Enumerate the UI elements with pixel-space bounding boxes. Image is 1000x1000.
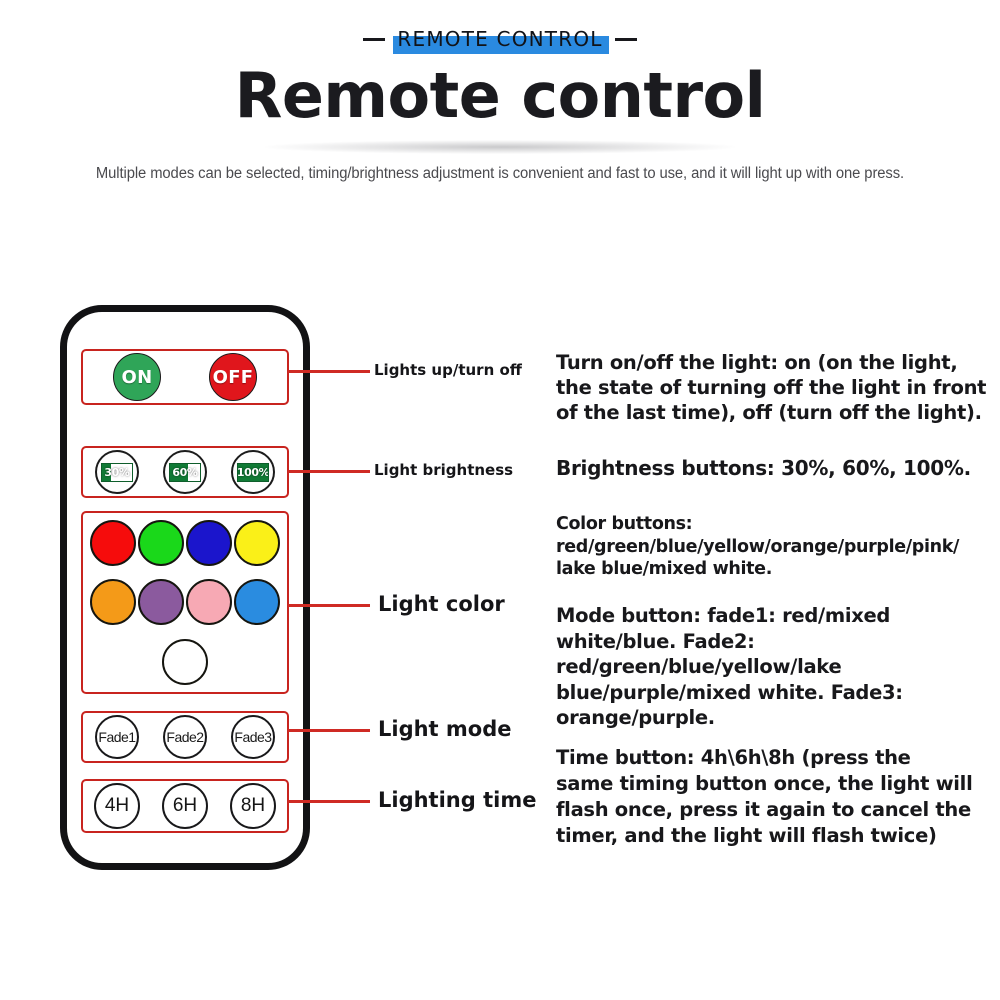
description-color: Color buttons: red/green/blue/yellow/ora… [556, 513, 959, 581]
mode-label-fade2: Fade2 [166, 729, 203, 745]
leader-line-power [288, 370, 370, 373]
timer-label-8h: 8H [241, 795, 265, 817]
timer-button-4h[interactable]: 4H [94, 783, 140, 829]
mode-button-fade1[interactable]: Fade1 [95, 715, 139, 759]
color-button-yellow[interactable] [234, 520, 280, 566]
callout-label-brightness: Light brightness [374, 461, 513, 479]
brightness-button-30[interactable]: 30% [95, 450, 139, 494]
color-button-lake-blue[interactable] [234, 579, 280, 625]
leader-line-color [288, 604, 370, 607]
brightness-button-60[interactable]: 60% [163, 450, 207, 494]
mode-button-fade3[interactable]: Fade3 [231, 715, 275, 759]
brightness-label-60: 60% [172, 466, 197, 479]
description-time: Time button: 4h\6h\8h (press the same ti… [556, 745, 972, 849]
brightness-button-100[interactable]: 100% [231, 450, 275, 494]
remote-control-device: ON OFF 30% 60% [60, 305, 310, 870]
timer-label-6h: 6H [173, 795, 197, 817]
callout-label-time: Lighting time [378, 788, 536, 812]
mode-label-fade3: Fade3 [234, 729, 271, 745]
eyebrow-dash-left [363, 38, 385, 41]
timer-button-6h[interactable]: 6H [162, 783, 208, 829]
page-header: REMOTE CONTROL Remote control Multiple m… [0, 0, 1000, 210]
mode-button-fade2[interactable]: Fade2 [163, 715, 207, 759]
page-title: Remote control [0, 58, 1000, 134]
callout-label-color: Light color [378, 592, 505, 616]
description-power: Turn on/off the light: on (on the light,… [556, 350, 986, 425]
brightness-label-30: 30% [104, 466, 129, 479]
power-on-label: ON [122, 367, 153, 388]
eyebrow-badge: REMOTE CONTROL [397, 27, 602, 51]
power-off-button[interactable]: OFF [209, 353, 257, 401]
leader-line-mode [288, 729, 370, 732]
brightness-badge-100: 100% [237, 463, 269, 482]
mode-button-group: Fade1 Fade2 Fade3 [81, 711, 289, 763]
page-subtitle: Multiple modes can be selected, timing/b… [23, 165, 978, 183]
power-button-group: ON OFF [81, 349, 289, 405]
color-button-red[interactable] [90, 520, 136, 566]
eyebrow-dash-right [615, 38, 637, 41]
title-shadow [265, 140, 735, 154]
mode-label-fade1: Fade1 [98, 729, 135, 745]
power-on-button[interactable]: ON [113, 353, 161, 401]
leader-line-brightness [288, 470, 370, 473]
description-brightness: Brightness buttons: 30%, 60%, 100%. [556, 455, 971, 481]
color-button-blue[interactable] [186, 520, 232, 566]
eyebrow-text: REMOTE CONTROL [397, 27, 602, 51]
color-button-orange[interactable] [90, 579, 136, 625]
color-button-purple[interactable] [138, 579, 184, 625]
color-button-mixed-white[interactable] [162, 639, 208, 685]
timer-label-4h: 4H [105, 795, 129, 817]
description-mode: Mode button: fade1: red/mixed white/blue… [556, 603, 903, 731]
callout-label-mode: Light mode [378, 717, 512, 741]
brightness-badge-30: 30% [101, 463, 133, 482]
timer-button-8h[interactable]: 8H [230, 783, 276, 829]
brightness-label-100: 100% [237, 466, 269, 479]
color-button-group [81, 511, 289, 694]
power-off-label: OFF [213, 367, 254, 388]
leader-line-time [288, 800, 370, 803]
brightness-badge-60: 60% [169, 463, 201, 482]
color-button-green[interactable] [138, 520, 184, 566]
timer-button-group: 4H 6H 8H [81, 779, 289, 833]
eyebrow-row: REMOTE CONTROL [0, 24, 1000, 54]
callout-label-power: Lights up/turn off [374, 361, 522, 379]
brightness-button-group: 30% 60% 100% [81, 446, 289, 498]
color-button-pink[interactable] [186, 579, 232, 625]
